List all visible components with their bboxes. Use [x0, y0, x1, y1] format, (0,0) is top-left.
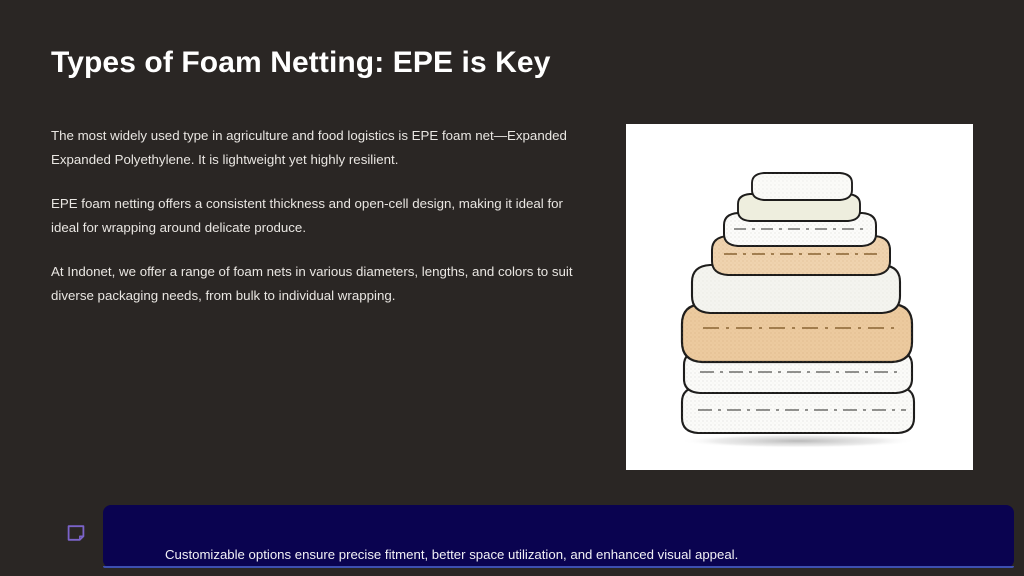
banner-caption: Customizable options ensure precise fitm… — [165, 546, 738, 564]
body-paragraph-3: At Indonet, we offer a range of foam net… — [51, 260, 591, 307]
body-text-column: The most widely used type in agriculture… — [51, 124, 591, 307]
bottom-caption-banner: Customizable options ensure precise fitm… — [103, 505, 1014, 568]
body-paragraph-1: The most widely used type in agriculture… — [51, 124, 591, 171]
note-page-icon[interactable] — [67, 524, 85, 542]
slide: Types of Foam Netting: EPE is Key The mo… — [0, 0, 1024, 576]
banner-accent-line — [103, 566, 1014, 568]
page-title: Types of Foam Netting: EPE is Key — [51, 44, 671, 82]
foam-net-sleeve-stack-icon — [626, 124, 973, 470]
body-paragraph-2: EPE foam netting offers a consistent thi… — [51, 192, 591, 239]
illustration-panel — [626, 124, 973, 470]
